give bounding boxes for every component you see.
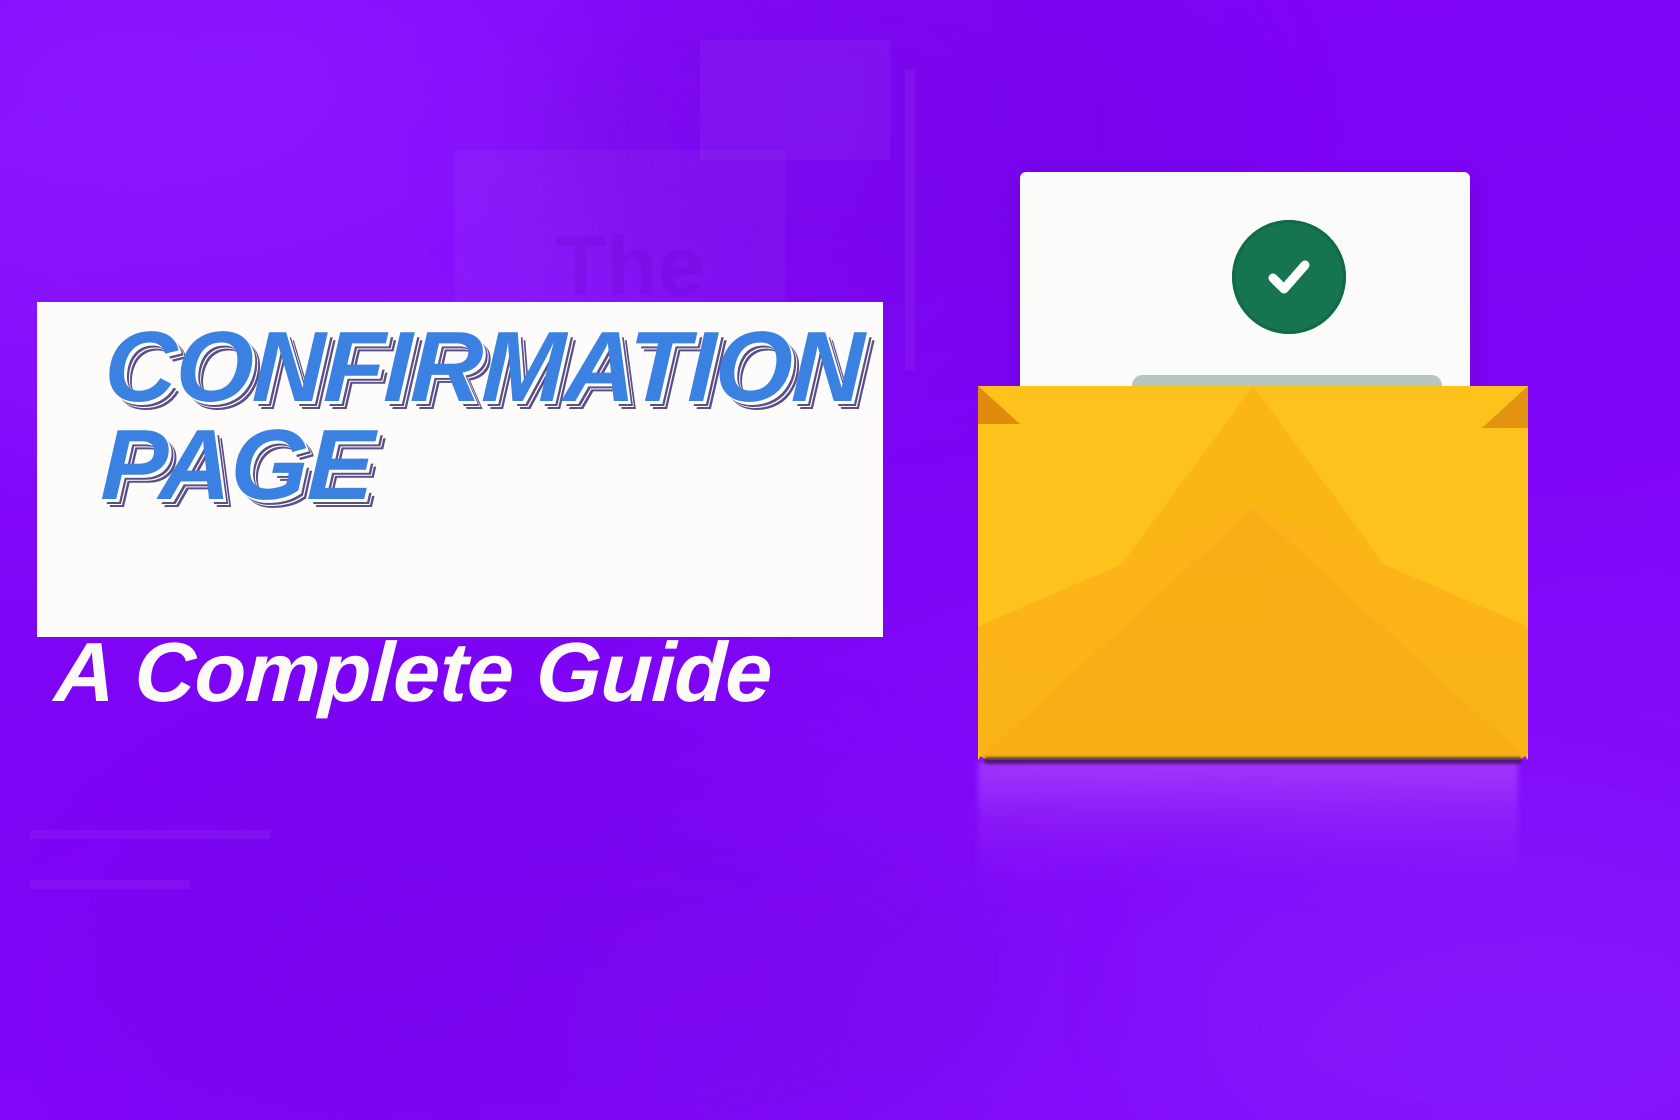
envelope-bottom-edge bbox=[984, 757, 1522, 764]
page-subtitle: A Complete Guide bbox=[53, 630, 774, 714]
envelope-left-flap-shadow bbox=[978, 386, 1020, 424]
background-shape bbox=[700, 40, 890, 160]
background-watermark-the: The bbox=[555, 218, 704, 315]
check-mark-icon bbox=[1232, 220, 1346, 334]
background-shape bbox=[30, 880, 190, 889]
background-shape bbox=[30, 830, 270, 839]
title-card: CONFIRMATION PAGE bbox=[37, 302, 883, 637]
envelope-right-flap-shadow bbox=[1482, 386, 1528, 428]
page-title: CONFIRMATION PAGE bbox=[100, 318, 927, 514]
poster-canvas: The Invest CONFIRMATION PAGE A Complete … bbox=[0, 0, 1680, 1120]
confirmation-illustration bbox=[960, 160, 1540, 820]
envelope bbox=[978, 386, 1528, 760]
